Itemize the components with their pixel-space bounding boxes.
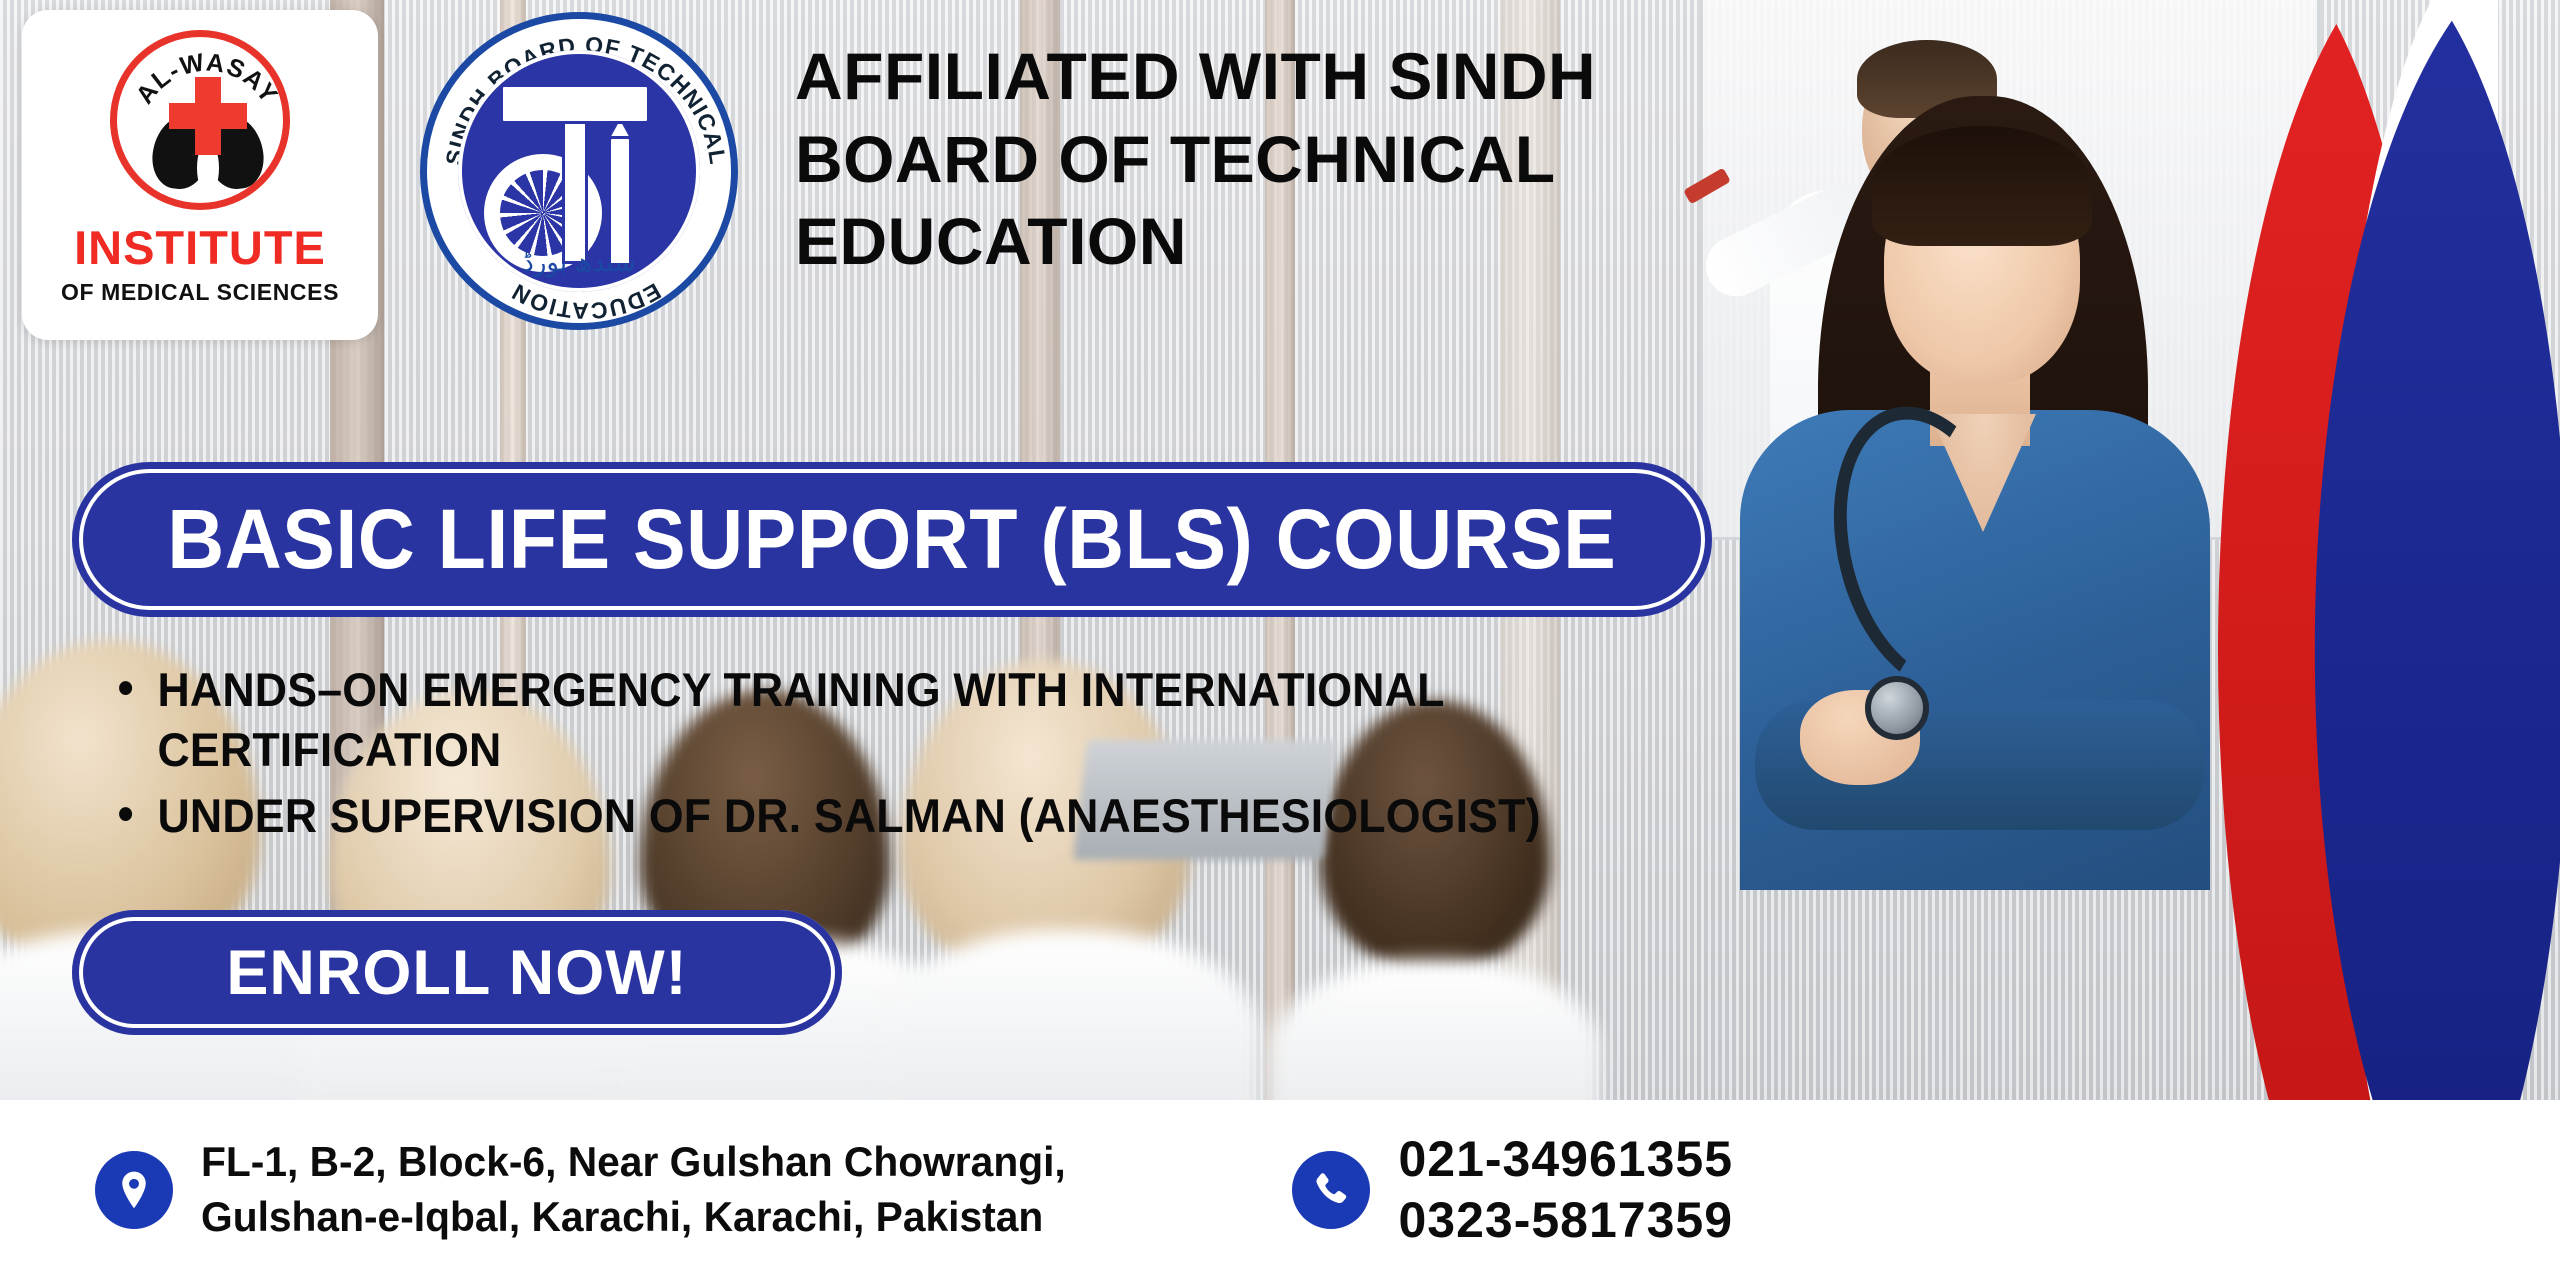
list-item: UNDER SUPERVISION OF DR. SALMAN (ANAESTH… bbox=[110, 786, 1592, 846]
sindh-board-seal: SINDH BOARD OF TECHNICAL EDUCATION سندھ … bbox=[420, 12, 738, 330]
institute-name: INSTITUTE bbox=[74, 220, 326, 275]
course-feature-list: HANDS–ON EMERGENCY TRAINING WITH INTERNA… bbox=[110, 660, 1670, 852]
phone-number-2[interactable]: 0323-5817359 bbox=[1398, 1190, 1733, 1251]
headline-line-1: AFFILIATED WITH SINDH bbox=[795, 42, 1775, 111]
institute-logo-card: AL-WASAY INSTITUTE OF MEDICAL SCIENCES bbox=[22, 10, 378, 340]
institute-subtitle: OF MEDICAL SCIENCES bbox=[61, 279, 339, 306]
map-pin-glyph bbox=[112, 1168, 156, 1212]
map-pin-icon bbox=[95, 1151, 173, 1229]
seal-inner-disc: سندھ بورڈ bbox=[458, 50, 700, 292]
address-line-1: FL-1, B-2, Block-6, Near Gulshan Chowran… bbox=[201, 1135, 1066, 1190]
list-item: HANDS–ON EMERGENCY TRAINING WITH INTERNA… bbox=[110, 660, 1592, 780]
affiliation-headline: AFFILIATED WITH SINDH BOARD OF TECHNICAL… bbox=[795, 42, 1775, 290]
headline-line-2: BOARD OF TECHNICAL bbox=[795, 125, 1775, 194]
address-line-2: Gulshan-e-Iqbal, Karachi, Karachi, Pakis… bbox=[201, 1190, 1066, 1245]
enroll-now-label: ENROLL NOW! bbox=[226, 937, 687, 1009]
address-text: FL-1, B-2, Block-6, Near Gulshan Chowran… bbox=[201, 1135, 1066, 1244]
red-cross-horizontal bbox=[169, 103, 247, 129]
headline-line-3: EDUCATION bbox=[795, 207, 1775, 276]
audience-shoulders bbox=[880, 930, 1260, 1110]
phone-icon bbox=[1292, 1151, 1370, 1229]
nurse-hair-top bbox=[1872, 126, 2092, 246]
phone-glyph bbox=[1309, 1168, 1353, 1212]
enroll-now-button[interactable]: ENROLL NOW! bbox=[72, 910, 842, 1035]
alwasay-emblem-icon: AL-WASAY bbox=[110, 30, 290, 210]
hammer-handle-icon bbox=[562, 116, 588, 264]
contact-footer: FL-1, B-2, Block-6, Near Gulshan Chowran… bbox=[0, 1100, 2560, 1280]
phone-numbers[interactable]: 021-34961355 0323-5817359 bbox=[1398, 1129, 1733, 1251]
seal-urdu-text: سندھ بورڈ bbox=[458, 247, 700, 278]
phone-block: 021-34961355 0323-5817359 bbox=[1292, 1129, 1733, 1251]
phone-number-1[interactable]: 021-34961355 bbox=[1398, 1129, 1733, 1190]
course-title-label: BASIC LIFE SUPPORT (BLS) COURSE bbox=[167, 491, 1616, 588]
stethoscope-chestpiece bbox=[1865, 676, 1929, 740]
promo-banner: AL-WASAY INSTITUTE OF MEDICAL SCIENCES S… bbox=[0, 0, 2560, 1280]
address-block: FL-1, B-2, Block-6, Near Gulshan Chowran… bbox=[95, 1135, 1092, 1244]
course-title-badge: BASIC LIFE SUPPORT (BLS) COURSE bbox=[72, 462, 1712, 617]
hammer-head-icon bbox=[500, 84, 650, 124]
